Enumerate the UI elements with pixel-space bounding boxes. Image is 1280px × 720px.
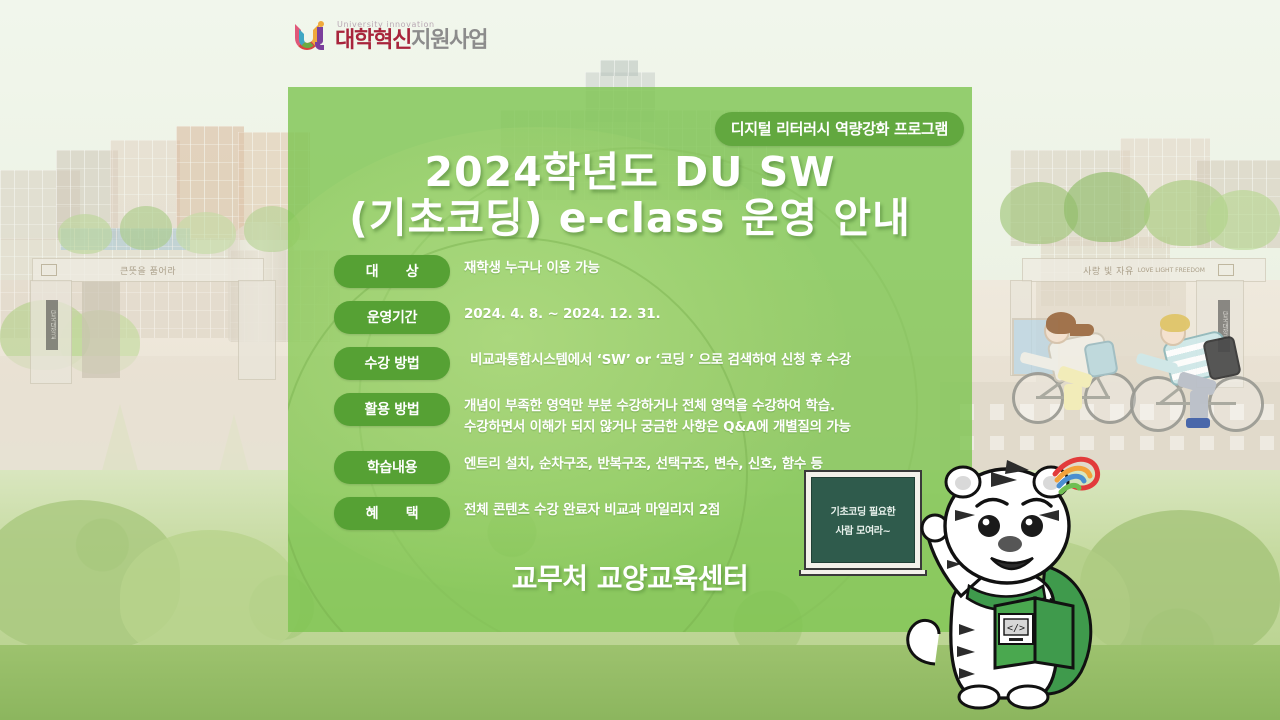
left-gate-pillar bbox=[238, 280, 276, 380]
female-cyclist bbox=[1010, 300, 1150, 430]
left-gate-doorway bbox=[82, 282, 120, 378]
left-gate-pillar-label: 단국대학교 bbox=[46, 300, 58, 350]
info-row-value: 비교과통합시스템에서 ‘SW’ or ‘코딩 ’ 으로 검색하여 신청 후 수강 bbox=[450, 347, 962, 371]
cyclist-hair bbox=[1160, 314, 1190, 332]
male-cyclist bbox=[1130, 300, 1280, 440]
cyclist-shoe bbox=[1186, 418, 1210, 428]
info-row: 활용 방법 개념이 부족한 영역만 부분 수강하거나 전체 영역을 수강하여 학… bbox=[334, 393, 962, 438]
info-row-value-line: 재학생 누구나 이용 가능 bbox=[464, 258, 962, 279]
uj-monogram-icon bbox=[295, 16, 329, 52]
info-row-value: 2024. 4. 8. ~ 2024. 12. 31. bbox=[450, 301, 962, 325]
mascot-eye-highlight bbox=[1026, 519, 1033, 526]
info-row: 수강 방법 비교과통합시스템에서 ‘SW’ or ‘코딩 ’ 으로 검색하여 신… bbox=[334, 347, 962, 380]
logo-korean-primary: 대학혁신 bbox=[335, 28, 411, 53]
logo-korean-text: 대학혁신지원사업 bbox=[335, 30, 487, 52]
mascot-tail bbox=[908, 620, 939, 664]
info-row-value-line: 2024. 4. 8. ~ 2024. 12. 31. bbox=[464, 304, 962, 325]
info-row: 대 상 재학생 누구나 이용 가능 bbox=[334, 255, 962, 288]
monitor-stand bbox=[1009, 638, 1023, 641]
info-row-value: 재학생 누구나 이용 가능 bbox=[450, 255, 962, 279]
mascot-eye-highlight bbox=[983, 519, 990, 526]
shrub bbox=[120, 530, 300, 660]
cyclist-ponytail bbox=[1070, 324, 1094, 336]
mascot-book-right-page bbox=[1035, 598, 1073, 668]
info-row-label: 대 상 bbox=[334, 255, 450, 288]
info-row: 운영기간 2024. 4. 8. ~ 2024. 12. 31. bbox=[334, 301, 962, 334]
mascot-eye bbox=[978, 515, 1000, 537]
info-row-value-line: 수강하면서 이해가 되지 않거나 궁금한 사항은 Q&A에 개별질의 가능 bbox=[464, 417, 962, 438]
building-block bbox=[600, 60, 638, 76]
logo-j-shape bbox=[315, 21, 324, 50]
cyclist-leg bbox=[1064, 384, 1082, 410]
info-row-label: 수강 방법 bbox=[334, 347, 450, 380]
poster-title-line-2: (기초코딩) e-class 운영 안내 bbox=[288, 196, 972, 242]
info-row-value: 개념이 부족한 영역만 부분 수강하거나 전체 영역을 수강하여 학습. 수강하… bbox=[450, 393, 962, 438]
backpack bbox=[1202, 335, 1242, 381]
tree bbox=[176, 212, 236, 254]
info-row-label: 운영기간 bbox=[334, 301, 450, 334]
blackboard-line-1: 기초코딩 필요한 bbox=[831, 503, 896, 518]
white-tiger-mascot: </> bbox=[895, 448, 1115, 710]
right-gate-text-ko: 사랑 빛 자유 bbox=[1083, 264, 1134, 277]
code-glyph: </> bbox=[1007, 623, 1025, 634]
poster-canvas: 큰뜻을 품어라 단국대학교 사랑 빛 자유 LOVE LIGHT FREEDOM… bbox=[0, 0, 1280, 720]
logo-korean-secondary: 지원사업 bbox=[411, 28, 487, 53]
mascot-foot bbox=[1008, 686, 1048, 708]
mascot-eye bbox=[1021, 515, 1043, 537]
right-gate-emblem bbox=[1218, 264, 1234, 276]
program-category-badge: 디지털 리터러시 역량강화 프로그램 bbox=[715, 112, 964, 146]
university-innovation-logo: University innovation 대학혁신지원사업 bbox=[295, 16, 487, 52]
info-row-value-line: 비교과통합시스템에서 ‘SW’ or ‘코딩 ’ 으로 검색하여 신청 후 수강 bbox=[464, 350, 962, 371]
poster-title-line-1: 2024학년도 DU SW bbox=[288, 150, 972, 196]
backpack bbox=[1083, 340, 1118, 379]
poster-title-block: 2024학년도 DU SW (기초코딩) e-class 운영 안내 bbox=[288, 150, 972, 242]
tree bbox=[58, 214, 112, 254]
info-row-label: 학습내용 bbox=[334, 451, 450, 484]
logo-text-block: University innovation 대학혁신지원사업 bbox=[335, 20, 487, 52]
logo-j-hook bbox=[315, 42, 324, 50]
info-row-label: 활용 방법 bbox=[334, 393, 450, 426]
right-gate-text-en: LOVE LIGHT FREEDOM bbox=[1138, 267, 1205, 274]
mascot-ear-inner bbox=[955, 476, 971, 490]
logo-u-inner-shape bbox=[299, 29, 316, 48]
blackboard-line-2: 사람 모여라~ bbox=[835, 522, 890, 537]
mascot-foot bbox=[959, 686, 999, 708]
tree bbox=[120, 206, 172, 250]
info-row-label: 혜 택 bbox=[334, 497, 450, 530]
tree bbox=[1206, 190, 1280, 250]
mascot-nose bbox=[998, 536, 1022, 552]
left-gate-beam: 큰뜻을 품어라 bbox=[32, 258, 264, 282]
tree bbox=[1064, 172, 1150, 242]
info-row-value-line: 개념이 부족한 영역만 부분 수강하거나 전체 영역을 수강하여 학습. bbox=[464, 396, 962, 417]
left-gate-emblem bbox=[41, 264, 57, 276]
left-gate-text: 큰뜻을 품어라 bbox=[120, 264, 176, 277]
cyclist-leg bbox=[1190, 390, 1208, 420]
